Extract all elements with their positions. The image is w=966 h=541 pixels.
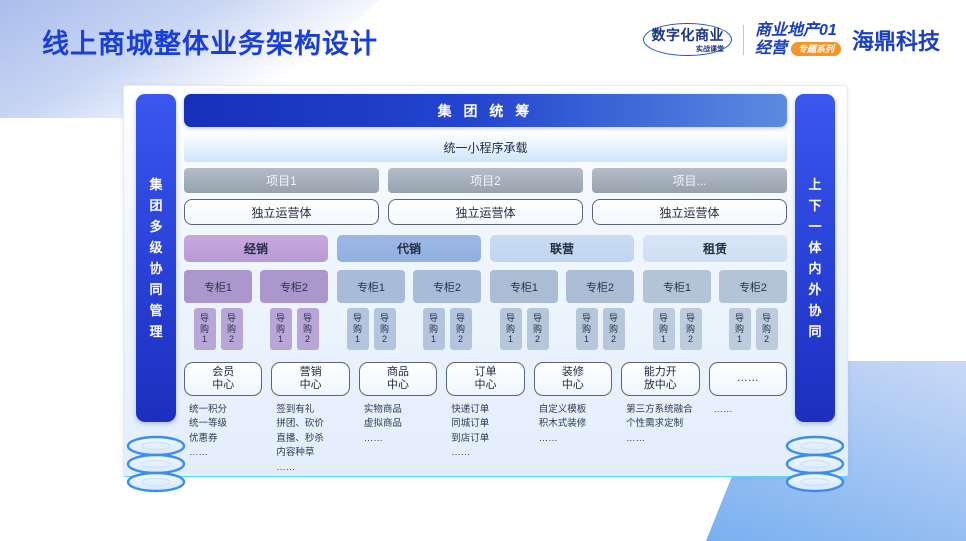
center-feature-4-3: 到店订单 bbox=[451, 432, 524, 446]
guide-card-经销-1-2[interactable]: 导购2 bbox=[221, 308, 243, 350]
guide-card-租赁-1-1[interactable]: 导购1 bbox=[653, 308, 675, 350]
center-feature-2-3: 直播、秒杀 bbox=[276, 432, 349, 446]
architecture-diagram-panel: 集团多级协同管理 上下一体内外协同 集 团 统 筹 统一小程序承载 bbox=[123, 85, 848, 477]
counter-card-租赁-专柜2[interactable]: 专柜2 bbox=[719, 270, 787, 303]
counter-card-联营-专柜1[interactable]: 专柜1 bbox=[490, 270, 558, 303]
center-feature-2-2: 拼团、砍价 bbox=[276, 417, 349, 431]
guide-card-联营-2-1[interactable]: 导购1 bbox=[576, 308, 598, 350]
left-pillar-char-5: 同 bbox=[149, 279, 162, 300]
channel-card-联营[interactable]: 联营 bbox=[490, 235, 634, 262]
center-button-会员[interactable]: 会员中心 bbox=[184, 362, 262, 396]
series-line1: 商业地产01 bbox=[755, 22, 841, 40]
center-button-line2-3: 中心 bbox=[387, 379, 409, 392]
center-feature-6-3: …… bbox=[626, 432, 699, 446]
project-card-2[interactable]: 项目2 bbox=[388, 168, 583, 193]
left-pillar-char-4: 协 bbox=[149, 258, 162, 279]
center-button-line1-5: 装修 bbox=[562, 366, 584, 379]
right-pillar-char-0: 上 bbox=[808, 174, 821, 195]
unified-miniprogram-bar: 统一小程序承载 bbox=[184, 132, 787, 162]
center-feature-5-1: 自定义模板 bbox=[539, 403, 612, 417]
left-pillar-char-1: 团 bbox=[149, 195, 162, 216]
guide-card-租赁-2-1[interactable]: 导购1 bbox=[729, 308, 751, 350]
counter-column-经销-2: 专柜2导购1导购2 bbox=[260, 270, 328, 350]
center-button-订单[interactable]: 订单中心 bbox=[446, 362, 524, 396]
center-feature-1-1: 统一积分 bbox=[189, 403, 262, 417]
database-stack-icon-left bbox=[120, 432, 192, 498]
right-pillar-char-7: 同 bbox=[808, 321, 821, 342]
guide-card-代销-1-1[interactable]: 导购1 bbox=[347, 308, 369, 350]
center-feature-list-2: 签到有礼拼团、砍价直播、秒杀内容种草…… bbox=[271, 403, 349, 475]
right-pillar-char-1: 下 bbox=[808, 195, 821, 216]
center-button-line2-1: 中心 bbox=[212, 379, 234, 392]
center-feature-2-4: 内容种草 bbox=[276, 446, 349, 460]
logo-primary-line2: 实战课堂 bbox=[696, 44, 724, 54]
center-feature-4-1: 快递订单 bbox=[451, 403, 524, 417]
logo-primary-line1: 数字化商业 bbox=[651, 25, 724, 45]
center-cell-5: 装修中心自定义模板积木式装修…… bbox=[534, 362, 612, 475]
counter-group-联营: 专柜1导购1导购2专柜2导购1导购2 bbox=[490, 270, 634, 350]
logo-digital-commerce: 数字化商业 实战课堂 bbox=[643, 22, 732, 58]
left-pillar-group-multilevel-collaboration: 集团多级协同管理 bbox=[136, 94, 176, 422]
center-feature-6-1: 第三方系统融合 bbox=[626, 403, 699, 417]
independent-entity-2[interactable]: 独立运营体 bbox=[388, 199, 583, 225]
guide-row-联营-2: 导购1导购2 bbox=[566, 308, 634, 350]
guide-card-经销-2-2[interactable]: 导购2 bbox=[297, 308, 319, 350]
guide-row-经销-1: 导购1导购2 bbox=[184, 308, 252, 350]
counter-column-租赁-1: 专柜1导购1导购2 bbox=[643, 270, 711, 350]
guide-card-联营-2-2[interactable]: 导购2 bbox=[603, 308, 625, 350]
guide-card-租赁-2-2[interactable]: 导购2 bbox=[756, 308, 778, 350]
independent-entity-1[interactable]: 独立运营体 bbox=[184, 199, 379, 225]
center-feature-list-5: 自定义模板积木式装修…… bbox=[534, 403, 612, 446]
center-feature-2-5: …… bbox=[276, 461, 349, 475]
project-card-1[interactable]: 项目1 bbox=[184, 168, 379, 193]
center-cell-1: 会员中心统一积分统一等级优惠券…… bbox=[184, 362, 262, 475]
center-feature-4-4: …… bbox=[451, 446, 524, 460]
independent-entity-3[interactable]: 独立运营体 bbox=[592, 199, 787, 225]
center-button-line1-3: 商品 bbox=[387, 366, 409, 379]
right-pillar-char-5: 外 bbox=[808, 279, 821, 300]
diagram-content: 集 团 统 筹 统一小程序承载 项目1项目2项目... 独立运营体独立运营体独立… bbox=[184, 94, 787, 468]
center-feature-5-3: …… bbox=[539, 432, 612, 446]
guide-row-经销-2: 导购1导购2 bbox=[260, 308, 328, 350]
guide-row-租赁-1: 导购1导购2 bbox=[643, 308, 711, 350]
counter-column-租赁-2: 专柜2导购1导购2 bbox=[719, 270, 787, 350]
channel-card-经销[interactable]: 经销 bbox=[184, 235, 328, 262]
guide-card-代销-2-2[interactable]: 导购2 bbox=[450, 308, 472, 350]
center-button-line1-4: 订单 bbox=[474, 366, 496, 379]
guide-row-代销-2: 导购1导购2 bbox=[413, 308, 481, 350]
center-feature-2-1: 签到有礼 bbox=[276, 403, 349, 417]
center-feature-3-1: 实物商品 bbox=[364, 403, 437, 417]
center-feature-list-6: 第三方系统融合个性需求定制…… bbox=[621, 403, 699, 446]
counter-column-代销-2: 专柜2导购1导购2 bbox=[413, 270, 481, 350]
counter-card-租赁-专柜1[interactable]: 专柜1 bbox=[643, 270, 711, 303]
center-button-装修[interactable]: 装修中心 bbox=[534, 362, 612, 396]
center-button-……[interactable]: …… bbox=[709, 362, 787, 396]
center-button-line2-2: 中心 bbox=[300, 379, 322, 392]
counter-column-代销-1: 专柜1导购1导购2 bbox=[337, 270, 405, 350]
right-pillar-char-4: 内 bbox=[808, 258, 821, 279]
counter-group-租赁: 专柜1导购1导购2专柜2导购1导购2 bbox=[643, 270, 787, 350]
project-row: 项目1项目2项目... bbox=[184, 168, 787, 193]
counter-group-row: 专柜1导购1导购2专柜2导购1导购2专柜1导购1导购2专柜2导购1导购2专柜1导… bbox=[184, 270, 787, 350]
center-feature-list-1: 统一积分统一等级优惠券…… bbox=[184, 403, 262, 461]
page-title: 线上商城整体业务架构设计 bbox=[42, 22, 378, 61]
guide-card-租赁-1-2[interactable]: 导购2 bbox=[680, 308, 702, 350]
right-pillar-char-3: 体 bbox=[808, 237, 821, 258]
brand-bar: 数字化商业 实战课堂 商业地产01 经营 专题系列 海鼎科技 bbox=[643, 22, 940, 58]
right-pillar-char-6: 协 bbox=[808, 300, 821, 321]
center-feature-1-2: 统一等级 bbox=[189, 417, 262, 431]
series-line2: 经营 bbox=[755, 40, 787, 58]
center-feature-list-3: 实物商品虚拟商品…… bbox=[359, 403, 437, 446]
counter-column-联营-1: 专柜1导购1导购2 bbox=[490, 270, 558, 350]
guide-card-联营-1-2[interactable]: 导购2 bbox=[527, 308, 549, 350]
counter-card-经销-专柜1[interactable]: 专柜1 bbox=[184, 270, 252, 303]
center-cell-2: 营销中心签到有礼拼团、砍价直播、秒杀内容种草…… bbox=[271, 362, 349, 475]
center-feature-1-4: …… bbox=[189, 446, 262, 460]
counter-card-联营-专柜2[interactable]: 专柜2 bbox=[566, 270, 634, 303]
counter-group-经销: 专柜1导购1导购2专柜2导购1导购2 bbox=[184, 270, 328, 350]
center-cell-6: 能力开放中心第三方系统融合个性需求定制…… bbox=[621, 362, 699, 475]
center-button-营销[interactable]: 营销中心 bbox=[271, 362, 349, 396]
center-feature-6-2: 个性需求定制 bbox=[626, 417, 699, 431]
left-pillar-char-0: 集 bbox=[149, 174, 162, 195]
brand-divider bbox=[743, 25, 744, 55]
center-button-line2-6: 放中心 bbox=[644, 379, 677, 392]
left-pillar-char-6: 管 bbox=[149, 300, 162, 321]
guide-card-代销-1-2[interactable]: 导购2 bbox=[374, 308, 396, 350]
guide-row-联营-1: 导购1导购2 bbox=[490, 308, 558, 350]
project-card-3[interactable]: 项目... bbox=[592, 168, 787, 193]
left-pillar-char-3: 级 bbox=[149, 237, 162, 258]
center-feature-3-3: …… bbox=[364, 432, 437, 446]
left-pillar-char-2: 多 bbox=[149, 216, 162, 237]
center-feature-3-2: 虚拟商品 bbox=[364, 417, 437, 431]
center-button-line1-7: …… bbox=[737, 372, 759, 385]
center-feature-4-2: 同城订单 bbox=[451, 417, 524, 431]
independent-entity-row: 独立运营体独立运营体独立运营体 bbox=[184, 199, 787, 225]
center-cell-4: 订单中心快递订单同城订单到店订单…… bbox=[446, 362, 524, 475]
guide-card-经销-2-1[interactable]: 导购1 bbox=[270, 308, 292, 350]
right-pillar-char-2: 一 bbox=[808, 216, 821, 237]
guide-row-代销-1: 导购1导购2 bbox=[337, 308, 405, 350]
counter-card-代销-专柜2[interactable]: 专柜2 bbox=[413, 270, 481, 303]
center-button-line1-2: 营销 bbox=[300, 366, 322, 379]
center-cell-7: ………… bbox=[709, 362, 787, 475]
guide-card-代销-2-1[interactable]: 导购1 bbox=[423, 308, 445, 350]
counter-column-联营-2: 专柜2导购1导购2 bbox=[566, 270, 634, 350]
channel-card-租赁[interactable]: 租赁 bbox=[643, 235, 787, 262]
center-cell-3: 商品中心实物商品虚拟商品…… bbox=[359, 362, 437, 475]
guide-row-租赁-2: 导购1导购2 bbox=[719, 308, 787, 350]
counter-card-代销-专柜1[interactable]: 专柜1 bbox=[337, 270, 405, 303]
left-pillar-char-7: 理 bbox=[149, 321, 162, 342]
center-button-line2-5: 中心 bbox=[562, 379, 584, 392]
counter-column-经销-1: 专柜1导购1导购2 bbox=[184, 270, 252, 350]
channel-row: 经销代销联营租赁 bbox=[184, 235, 787, 262]
center-feature-7-1: …… bbox=[714, 403, 787, 417]
database-stack-icon-right bbox=[779, 432, 851, 498]
counter-group-代销: 专柜1导购1导购2专柜2导购1导购2 bbox=[337, 270, 481, 350]
group-coordination-bar: 集 团 统 筹 bbox=[184, 94, 787, 127]
center-button-line1-6: 能力开 bbox=[644, 366, 677, 379]
center-feature-5-2: 积木式装修 bbox=[539, 417, 612, 431]
capability-center-row: 会员中心统一积分统一等级优惠券……营销中心签到有礼拼团、砍价直播、秒杀内容种草…… bbox=[184, 362, 787, 475]
series-label: 商业地产01 经营 专题系列 bbox=[755, 22, 841, 58]
channel-card-代销[interactable]: 代销 bbox=[337, 235, 481, 262]
right-pillar-top-bottom-integration: 上下一体内外协同 bbox=[795, 94, 835, 422]
center-feature-list-7: …… bbox=[709, 403, 787, 417]
center-feature-1-3: 优惠券 bbox=[189, 432, 262, 446]
counter-card-经销-专柜2[interactable]: 专柜2 bbox=[260, 270, 328, 303]
series-badge: 专题系列 bbox=[791, 42, 841, 56]
guide-card-经销-1-1[interactable]: 导购1 bbox=[194, 308, 216, 350]
center-button-line2-4: 中心 bbox=[474, 379, 496, 392]
center-feature-list-4: 快递订单同城订单到店订单…… bbox=[446, 403, 524, 461]
center-button-商品[interactable]: 商品中心 bbox=[359, 362, 437, 396]
center-button-能力开[interactable]: 能力开放中心 bbox=[621, 362, 699, 396]
guide-card-联营-1-1[interactable]: 导购1 bbox=[500, 308, 522, 350]
center-button-line1-1: 会员 bbox=[212, 366, 234, 379]
company-name: 海鼎科技 bbox=[852, 24, 940, 56]
